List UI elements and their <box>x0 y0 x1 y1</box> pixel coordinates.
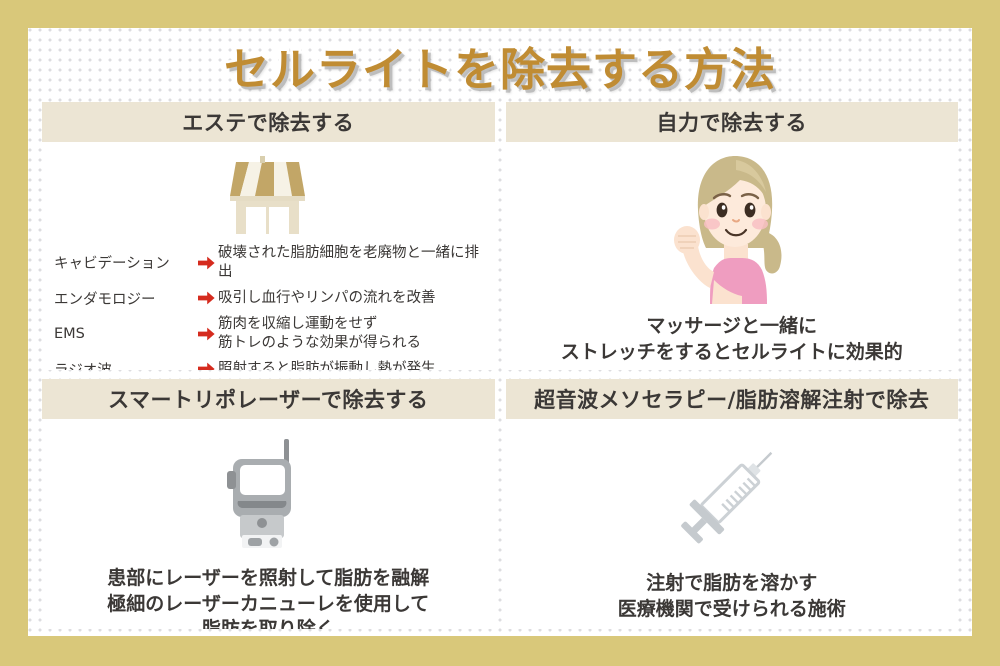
panel-self-care: 自力で除去する <box>506 102 959 370</box>
panel-laser: スマートリポレーザーで除去する <box>42 379 495 629</box>
panel-injection-title: 超音波メソセラピー/脂肪溶解注射で除去 <box>534 384 929 414</box>
panel-self-care-caption: マッサージと一緒に ストレッチをするとセルライトに効果的 <box>561 314 903 365</box>
woman-flexing-arm-icon <box>662 148 802 308</box>
page-title: セルライトを除去する方法 <box>224 33 776 98</box>
method-description: 破壊された脂肪細胞を老廃物と一緒に排出 <box>218 244 485 281</box>
list-item: エンダモロジー 吸引し血行やリンパの流れを改善 <box>54 286 485 310</box>
panel-injection-caption: 注射で脂肪を溶かす 医療機関で受けられる施術 <box>618 571 846 622</box>
panel-self-care-body: マッサージと一緒に ストレッチをするとセルライトに効果的 <box>506 142 959 370</box>
arrow-right-icon <box>194 362 218 370</box>
panel-laser-header: スマートリポレーザーで除去する <box>42 379 495 419</box>
panel-esthetic: エステで除去する <box>42 102 495 370</box>
infographic-poster: セルライトを除去する方法 エステで除去する <box>0 0 1000 666</box>
arrow-right-icon <box>194 327 218 341</box>
arrow-right-icon <box>194 291 218 305</box>
arrow-right-icon <box>194 256 218 270</box>
panel-injection: 超音波メソセラピー/脂肪溶解注射で除去 <box>506 379 959 629</box>
method-description: 吸引し血行やリンパの流れを改善 <box>218 289 436 308</box>
panel-esthetic-body: キャビデーション 破壊された脂肪細胞を老廃物と一緒に排出 エンダモロジー <box>42 142 495 370</box>
panel-laser-body: 患部にレーザーを照射して脂肪を融解 極細のレーザーカニューレを使用して 脂肪を取… <box>42 419 495 629</box>
salon-storefront-icon <box>216 150 320 240</box>
panel-laser-title: スマートリポレーザーで除去する <box>108 384 428 414</box>
panel-injection-body: 注射で脂肪を溶かす 医療機関で受けられる施術 <box>506 419 959 629</box>
method-description: 筋肉を収縮し運動をせず 筋トレのような効果が得られる <box>218 315 421 352</box>
method-term: ラジオ波 <box>54 359 194 370</box>
method-description: 照射すると脂肪が振動し熱が発生 <box>218 360 436 370</box>
panel-self-care-header: 自力で除去する <box>506 102 959 142</box>
poster-inner-canvas: セルライトを除去する方法 エステで除去する <box>28 28 972 636</box>
panel-injection-header: 超音波メソセラピー/脂肪溶解注射で除去 <box>506 379 959 419</box>
panel-laser-caption: 患部にレーザーを照射して脂肪を融解 極細のレーザーカニューレを使用して 脂肪を取… <box>107 566 429 629</box>
method-term: EMS <box>54 326 194 342</box>
method-term: エンダモロジー <box>54 288 194 309</box>
method-term: キャビデーション <box>54 252 194 273</box>
panel-esthetic-header: エステで除去する <box>42 102 495 142</box>
laser-machine-icon <box>218 435 318 554</box>
list-item: ラジオ波 照射すると脂肪が振動し熱が発生 <box>54 357 485 370</box>
title-area: セルライトを除去する方法 <box>28 28 972 102</box>
panel-self-care-title: 自力で除去する <box>657 107 808 137</box>
list-item: キャビデーション 破壊された脂肪細胞を老廃物と一緒に排出 <box>54 244 485 281</box>
panel-grid: エステで除去する <box>28 102 972 629</box>
esthetic-method-list: キャビデーション 破壊された脂肪細胞を老廃物と一緒に排出 エンダモロジー <box>42 240 495 370</box>
syringe-icon <box>673 435 791 557</box>
panel-esthetic-title: エステで除去する <box>182 107 354 137</box>
list-item: EMS 筋肉を収縮し運動をせず 筋トレのような効果が得られる <box>54 315 485 352</box>
